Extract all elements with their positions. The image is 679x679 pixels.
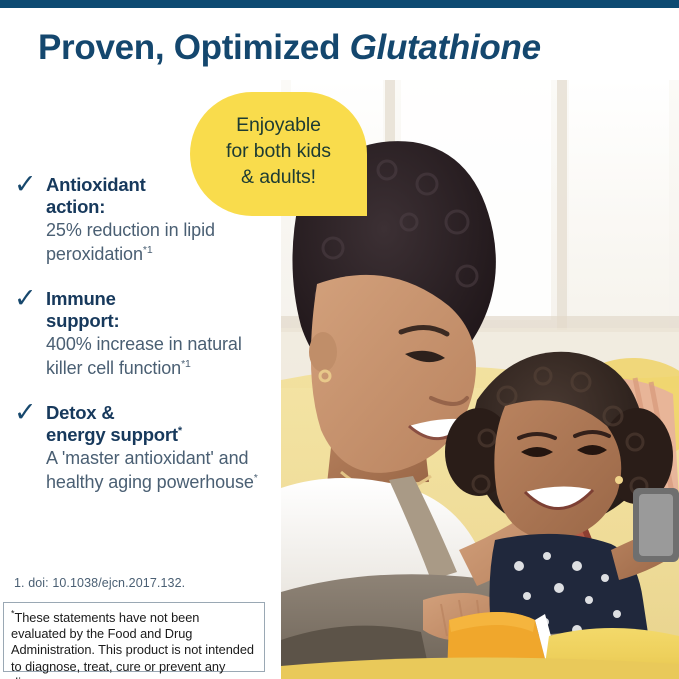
benefit-item-immune: ✓ Immune support: 400% increase in natur… (14, 288, 276, 380)
benefit-title-line-1: Detox & (46, 402, 276, 424)
benefit-body-text: 25% reduction in lipid peroxidation (46, 220, 215, 264)
benefit-body: A 'master antioxidant' and healthy aging… (46, 446, 276, 494)
headline-emphasis: Glutathione (350, 28, 541, 67)
benefit-item-antioxidant: ✓ Antioxidant action: 25% reduction in l… (14, 174, 276, 266)
benefit-title: Immune support: (46, 288, 276, 331)
benefit-title-line-1: Immune (46, 288, 276, 310)
benefit-body-text: 400% increase in natural killer cell fun… (46, 334, 242, 378)
disclaimer-body: These statements have not been evaluated… (11, 610, 254, 679)
checkmark-icon: ✓ (14, 285, 40, 312)
benefit-title: Antioxidant action: (46, 174, 276, 217)
fda-disclaimer-text: *These statements have not been evaluate… (11, 610, 255, 679)
benefit-body-text: A 'master antioxidant' and healthy aging… (46, 448, 254, 492)
benefit-title-sup: * (178, 424, 182, 436)
benefit-title: Detox & energy support* (46, 402, 276, 445)
headline-lead: Proven, Optimized (38, 28, 350, 67)
infographic-canvas: Proven, Optimized Glutathione Enjoyable … (0, 0, 679, 679)
badge-line-2: for both kids (190, 138, 367, 164)
benefit-title-line-2: support: (46, 310, 276, 332)
benefit-title-line-2: action: (46, 196, 276, 218)
benefit-body-sup: *1 (181, 358, 191, 370)
benefit-title-line-2-text: action: (46, 196, 105, 217)
checkmark-icon: ✓ (14, 399, 40, 426)
citation-footnote: 1. doi: 10.1038/ejcn.2017.132. (14, 575, 264, 591)
fda-disclaimer-box: *These statements have not been evaluate… (3, 602, 265, 672)
benefit-title-line-2-text: support: (46, 310, 119, 331)
top-accent-bar (0, 0, 679, 8)
benefit-title-line-1: Antioxidant (46, 174, 276, 196)
benefit-body-sup: *1 (143, 244, 153, 256)
benefit-title-line-2: energy support* (46, 424, 276, 446)
benefit-item-detox: ✓ Detox & energy support* A 'master anti… (14, 402, 276, 494)
benefit-body: 400% increase in natural killer cell fun… (46, 332, 276, 380)
benefit-body-sup: * (254, 472, 258, 484)
benefit-body: 25% reduction in lipid peroxidation*1 (46, 218, 276, 266)
benefit-title-line-2-text: energy support (46, 424, 178, 445)
benefit-list: ✓ Antioxidant action: 25% reduction in l… (14, 174, 276, 494)
page-title: Proven, Optimized Glutathione (38, 26, 658, 70)
checkmark-icon: ✓ (14, 171, 40, 198)
badge-line-1: Enjoyable (190, 112, 367, 138)
